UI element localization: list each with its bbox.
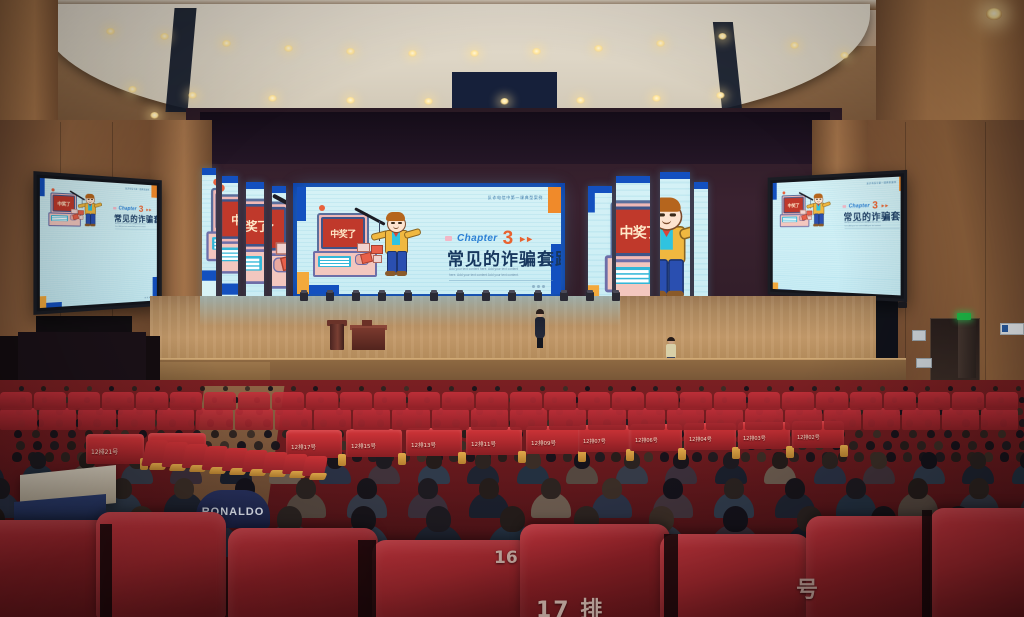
seat-label: 12排04号 bbox=[689, 436, 712, 443]
audience-head bbox=[968, 441, 977, 450]
audience-head bbox=[418, 478, 438, 499]
led-strip-cap bbox=[246, 182, 264, 189]
seat-back[interactable] bbox=[824, 408, 861, 430]
ceiling-downlight bbox=[222, 40, 231, 47]
audience-head bbox=[970, 452, 986, 469]
seat-back[interactable] bbox=[238, 392, 270, 410]
monitor-screen-text: 中奖了 bbox=[246, 217, 264, 234]
wall-notice-sign bbox=[1000, 323, 1024, 335]
audience-head bbox=[917, 441, 926, 450]
presenter-hair bbox=[536, 309, 544, 314]
seat-back[interactable] bbox=[578, 392, 610, 410]
seat-label: 12排15号 bbox=[351, 442, 376, 450]
audience-head bbox=[785, 478, 805, 499]
footlight bbox=[456, 292, 464, 301]
ceiling-downlight bbox=[532, 48, 541, 55]
seat-back[interactable] bbox=[157, 408, 194, 430]
seat-back[interactable] bbox=[306, 392, 338, 410]
slide-illustration: 中奖了 bbox=[272, 196, 286, 302]
ceiling-wood-left bbox=[0, 0, 58, 132]
seat-label: 12排11号 bbox=[471, 440, 496, 448]
seat-gap bbox=[358, 540, 376, 617]
led-strip-cap bbox=[660, 172, 690, 179]
footlight bbox=[430, 292, 438, 301]
led-strip-cap bbox=[222, 176, 238, 183]
keyboard-icon bbox=[616, 267, 650, 284]
seat-back[interactable] bbox=[816, 392, 848, 410]
character-hair bbox=[386, 212, 405, 221]
phishing-card bbox=[371, 245, 383, 254]
seat-back[interactable] bbox=[275, 408, 312, 430]
wall-plate bbox=[916, 358, 932, 368]
seat-back[interactable] bbox=[118, 408, 155, 430]
presentation-slide: 反诈电信中第一课典型案例 中奖了 bbox=[297, 187, 561, 294]
wall-plate bbox=[912, 330, 926, 341]
foreground-seat[interactable] bbox=[96, 512, 226, 617]
slide-illustration: 中奖了 bbox=[222, 189, 238, 286]
seat-back[interactable] bbox=[785, 408, 822, 430]
seat-label: 12排03号 bbox=[743, 435, 766, 442]
audience-head bbox=[296, 478, 316, 499]
footlight bbox=[534, 292, 542, 301]
seat-back[interactable] bbox=[612, 392, 644, 410]
led-strip-cap bbox=[272, 186, 286, 193]
audience-head bbox=[631, 386, 636, 391]
slide-pagination-dots bbox=[532, 285, 545, 288]
audience-head bbox=[903, 386, 908, 391]
audience-head bbox=[886, 452, 896, 462]
seat-back[interactable] bbox=[392, 408, 429, 430]
seat-back[interactable] bbox=[863, 408, 900, 430]
seat-label: 12排07号 bbox=[583, 438, 606, 445]
exit-sign-icon bbox=[957, 313, 971, 320]
ceiling-downlight bbox=[594, 45, 603, 52]
seat-back[interactable] bbox=[136, 392, 168, 410]
stage-table-item bbox=[362, 320, 372, 326]
foreground-seat[interactable] bbox=[930, 508, 1024, 617]
seat-back[interactable] bbox=[544, 392, 576, 410]
seat-back[interactable] bbox=[34, 392, 66, 410]
chapter-tag bbox=[445, 236, 452, 241]
seat-back[interactable] bbox=[0, 408, 37, 430]
keyboard-icon bbox=[246, 256, 262, 271]
audience-head bbox=[479, 478, 499, 499]
audience-head bbox=[14, 430, 22, 438]
ceiling-downlight bbox=[840, 52, 849, 59]
seat-number-label: 号 bbox=[796, 572, 818, 604]
seat-back[interactable] bbox=[442, 392, 474, 410]
audience-head bbox=[500, 506, 525, 532]
character-shoe bbox=[385, 271, 396, 276]
character-eye bbox=[660, 213, 665, 215]
audience-head bbox=[873, 430, 881, 438]
slide-divider bbox=[449, 280, 553, 281]
seat-back[interactable] bbox=[170, 392, 202, 410]
seat-armrest bbox=[398, 453, 406, 465]
seat-back[interactable] bbox=[902, 408, 939, 430]
audience-head bbox=[903, 452, 913, 462]
slide-accent-top-left bbox=[297, 187, 306, 221]
audience-head bbox=[254, 441, 263, 450]
ceiling-downlight bbox=[346, 97, 355, 104]
ceiling-downlight bbox=[160, 33, 169, 40]
foreground-seat[interactable] bbox=[660, 534, 810, 617]
side-display-left[interactable]: 反诈电信中第一课典型案例 中奖了 bbox=[33, 171, 161, 315]
seat-gap bbox=[664, 534, 678, 617]
footlight bbox=[612, 292, 620, 301]
audience-head bbox=[336, 386, 341, 391]
seat-armrest bbox=[458, 452, 466, 464]
seat-back[interactable] bbox=[510, 408, 547, 430]
seat-back[interactable] bbox=[314, 408, 351, 430]
seat-back[interactable] bbox=[204, 392, 236, 410]
audience-head bbox=[1016, 386, 1021, 391]
computer-base bbox=[605, 255, 612, 292]
audience-head bbox=[357, 478, 377, 499]
ceiling-downlight bbox=[408, 50, 417, 57]
ceiling-downlight bbox=[284, 45, 293, 52]
seat-back[interactable] bbox=[272, 392, 304, 410]
audience-head bbox=[155, 386, 160, 391]
keyboard-icon bbox=[222, 248, 238, 262]
seat-label: 12排17号 bbox=[291, 443, 316, 451]
mirror-monitor-text-left: 中奖了 bbox=[57, 200, 70, 207]
footlight bbox=[378, 292, 386, 301]
seat-back[interactable] bbox=[646, 392, 678, 410]
audience-head bbox=[1019, 419, 1024, 427]
side-display-left-screen: 反诈电信中第一课典型案例 中奖了 bbox=[40, 178, 157, 308]
seat-back[interactable] bbox=[432, 408, 469, 430]
led-strip-cap bbox=[694, 182, 708, 189]
seat-back[interactable] bbox=[952, 392, 984, 410]
audience-head bbox=[909, 430, 917, 438]
monitor-screen: 中奖了 bbox=[222, 199, 238, 239]
mirrored-slide-right: 反诈电信中第一课典型案例 中奖了 bbox=[773, 177, 901, 296]
audience-head bbox=[291, 386, 296, 391]
seat-back[interactable] bbox=[942, 408, 979, 430]
seat-back[interactable] bbox=[353, 408, 390, 430]
presenter-legs bbox=[537, 338, 543, 348]
ceiling-downlight bbox=[188, 92, 197, 99]
seat-back[interactable] bbox=[981, 408, 1018, 430]
auditorium-scene: 反诈电信中第一课典型案例 中奖了 bbox=[0, 0, 1024, 617]
seat-back[interactable] bbox=[588, 408, 625, 430]
seat-label: 12排02号 bbox=[797, 434, 820, 441]
phishing-card bbox=[357, 243, 370, 252]
audience-head bbox=[676, 386, 681, 391]
audience-head bbox=[19, 386, 24, 391]
seat-label: 12排09号 bbox=[531, 439, 556, 447]
seat-back[interactable] bbox=[918, 392, 950, 410]
presentation-slide: 反诈电信中第一课典型案例 中奖了 bbox=[202, 168, 216, 281]
monitor-screen-text: 中奖了 bbox=[620, 221, 650, 241]
seat-back[interactable] bbox=[850, 392, 882, 410]
audience-head bbox=[871, 452, 887, 469]
seat-row-marker-16: 16 bbox=[494, 548, 518, 568]
audience-head bbox=[359, 386, 364, 391]
audience-head bbox=[540, 386, 545, 391]
seat-armrest bbox=[518, 451, 526, 463]
side-display-right-screen: 反诈电信中第一课典型案例 中奖了 bbox=[773, 177, 901, 296]
ceiling-downlight bbox=[268, 95, 277, 102]
audience-head bbox=[268, 386, 273, 391]
audience-head bbox=[855, 430, 863, 438]
audience-head bbox=[32, 430, 40, 438]
seat-back[interactable] bbox=[748, 392, 780, 410]
foreground-seat[interactable] bbox=[0, 520, 110, 617]
audience-head bbox=[495, 386, 500, 391]
seat-armrest bbox=[338, 454, 346, 466]
audience-head bbox=[663, 478, 683, 499]
audience-head bbox=[33, 441, 42, 450]
audience-head bbox=[12, 452, 22, 462]
student-hair bbox=[667, 337, 675, 341]
audience-head bbox=[1000, 452, 1010, 462]
audience-head bbox=[611, 452, 621, 462]
side-display-right[interactable]: 反诈电信中第一课典型案例 中奖了 bbox=[768, 170, 907, 302]
audience-head bbox=[50, 441, 59, 450]
ceiling-downlight-bright bbox=[986, 8, 1002, 20]
audience-head bbox=[404, 386, 409, 391]
ceiling-downlight bbox=[718, 33, 727, 40]
audience-head bbox=[708, 452, 718, 462]
character-eye bbox=[398, 222, 402, 224]
audience-head bbox=[908, 478, 928, 499]
audience-head bbox=[426, 506, 451, 532]
audience-head bbox=[854, 452, 864, 462]
audience-head bbox=[900, 441, 909, 450]
seat-back[interactable] bbox=[340, 392, 372, 410]
slide-illustration: 中奖了 bbox=[605, 195, 612, 306]
main-led-wall[interactable]: 反诈电信中第一课典型案例 中奖了 bbox=[297, 187, 561, 294]
mirror-monitor-text-right: 中奖了 bbox=[788, 202, 800, 209]
seat-armrest bbox=[309, 473, 328, 480]
audience-head bbox=[883, 441, 892, 450]
footlight bbox=[482, 292, 490, 301]
phishing-card bbox=[276, 242, 286, 254]
monitor-screen-text: 中奖了 bbox=[231, 211, 238, 227]
seat-row-label-17: 17 排 bbox=[536, 592, 604, 617]
seat-back[interactable] bbox=[714, 392, 746, 410]
audience-head bbox=[525, 452, 541, 469]
led-strip-cap bbox=[202, 168, 216, 175]
ceiling-downlight bbox=[716, 92, 725, 99]
audience-head bbox=[951, 452, 961, 462]
seat-back[interactable] bbox=[706, 408, 743, 430]
chapter-arrow-icon: ►► bbox=[518, 234, 532, 244]
audience-head bbox=[835, 386, 840, 391]
audience-head bbox=[692, 452, 702, 462]
seat-back[interactable] bbox=[0, 392, 32, 410]
footlight bbox=[508, 292, 516, 301]
audience-head bbox=[427, 386, 432, 391]
lectern bbox=[330, 324, 344, 350]
seat-back[interactable] bbox=[510, 392, 542, 410]
audience-head bbox=[68, 430, 76, 438]
audience-head bbox=[45, 452, 55, 462]
audience-head bbox=[767, 386, 772, 391]
seat-back[interactable] bbox=[39, 408, 76, 430]
ceiling-downlight bbox=[470, 50, 479, 57]
student-body bbox=[666, 344, 676, 358]
seat-back[interactable] bbox=[667, 408, 704, 430]
seat-back[interactable] bbox=[68, 392, 100, 410]
seat-back[interactable] bbox=[408, 392, 440, 410]
seat-back[interactable] bbox=[680, 392, 712, 410]
presentation-slide: 反诈电信中第一课典型案例 中奖了 bbox=[272, 186, 286, 312]
seat-back[interactable] bbox=[782, 392, 814, 410]
footlight bbox=[300, 292, 308, 301]
seat-label: 12排13号 bbox=[411, 441, 436, 449]
footlight bbox=[352, 292, 360, 301]
seat-back[interactable] bbox=[235, 408, 272, 430]
character-shoe bbox=[396, 271, 407, 276]
presentation-slide: 反诈电信中第一课典型案例 中奖了 bbox=[246, 182, 264, 307]
audience-head bbox=[229, 430, 237, 438]
monitor-screen: 中奖了 bbox=[246, 204, 264, 247]
audience-head bbox=[1019, 441, 1024, 450]
audience-head bbox=[846, 478, 866, 499]
presenter-body bbox=[535, 317, 545, 339]
audience-head bbox=[866, 441, 875, 450]
stage-table bbox=[352, 328, 385, 350]
seat-label: 12排06号 bbox=[635, 437, 658, 444]
seat-gap bbox=[922, 510, 932, 617]
audience-head bbox=[880, 386, 885, 391]
audience-head bbox=[921, 452, 937, 469]
audience-head bbox=[806, 452, 816, 462]
slide-accent-top-right bbox=[548, 187, 561, 213]
audience-head bbox=[724, 478, 744, 499]
character-eye bbox=[391, 222, 395, 224]
door-curtain bbox=[958, 320, 976, 378]
security-camera-icon bbox=[898, 302, 907, 308]
ceiling-downlight bbox=[656, 40, 665, 47]
audience-head bbox=[891, 430, 899, 438]
stage-header-masking bbox=[200, 112, 830, 164]
seat-back[interactable] bbox=[549, 408, 586, 430]
slide-illustration: 中奖了 bbox=[313, 209, 423, 287]
audience-head bbox=[822, 452, 838, 469]
monitor-screen: 中奖了 bbox=[616, 207, 650, 257]
monitor-screen-text: 中奖了 bbox=[272, 220, 274, 238]
seat-back[interactable] bbox=[745, 408, 782, 430]
audience-head bbox=[223, 386, 228, 391]
seat-back[interactable] bbox=[102, 392, 134, 410]
seat-armrest bbox=[840, 445, 848, 457]
audience-head bbox=[200, 386, 205, 391]
seat-back[interactable] bbox=[986, 392, 1018, 410]
wall-seam bbox=[985, 122, 986, 414]
audience-head bbox=[541, 478, 561, 499]
audience-head bbox=[1019, 397, 1024, 403]
audience-head bbox=[934, 441, 943, 450]
footlight bbox=[560, 292, 568, 301]
audience-head bbox=[16, 441, 25, 450]
slide-illustration: 中奖了 bbox=[206, 183, 216, 272]
footlight bbox=[404, 292, 412, 301]
audience-head bbox=[948, 386, 953, 391]
audience-head bbox=[247, 430, 255, 438]
led-strip-cap bbox=[616, 176, 650, 183]
audience-head bbox=[61, 452, 71, 462]
seat-back[interactable] bbox=[374, 392, 406, 410]
audience-head bbox=[271, 441, 280, 450]
seat-back[interactable] bbox=[628, 408, 665, 430]
audience-head bbox=[1020, 452, 1024, 469]
ceiling-downlight bbox=[500, 98, 509, 105]
footlight bbox=[586, 292, 594, 301]
ceiling-downlight bbox=[424, 98, 433, 105]
ceiling-downlight bbox=[346, 48, 355, 55]
audience-head bbox=[67, 441, 76, 450]
audience-head bbox=[30, 452, 46, 469]
audience-head bbox=[744, 386, 749, 391]
audience-head bbox=[87, 386, 92, 391]
audience-head bbox=[211, 430, 219, 438]
audience-head bbox=[602, 478, 622, 499]
monitor-screen-text: 中奖了 bbox=[330, 227, 356, 240]
character-eye bbox=[670, 213, 676, 215]
ceiling-downlight bbox=[128, 86, 137, 93]
audience-head bbox=[50, 430, 58, 438]
audience-head bbox=[971, 386, 976, 391]
audience-head bbox=[741, 452, 751, 462]
phishing-card bbox=[373, 255, 382, 263]
audience-head bbox=[723, 506, 748, 532]
audience-head bbox=[595, 452, 605, 462]
slide-header-text: 反诈电信中第一课典型案例 bbox=[488, 195, 543, 201]
slide-subtitle-line-2: here. Add your text content Add your tex… bbox=[449, 272, 553, 278]
slide-subtitle: Add your text content here. Add your tex… bbox=[449, 266, 553, 278]
mirror-chapter-right: Chapter bbox=[849, 203, 870, 209]
ceiling-downlight bbox=[106, 28, 115, 35]
audience-head bbox=[849, 441, 858, 450]
seat-back[interactable] bbox=[884, 392, 916, 410]
seat-back[interactable] bbox=[476, 392, 508, 410]
footlight bbox=[326, 292, 334, 301]
led-strip-cap bbox=[588, 186, 612, 193]
audience-head bbox=[608, 386, 613, 391]
audience-head bbox=[1016, 430, 1024, 438]
audience-head bbox=[699, 386, 704, 391]
audience-head bbox=[472, 386, 477, 391]
audience-head bbox=[969, 478, 989, 499]
keyboard-icon bbox=[212, 237, 216, 250]
ceiling-wood-right bbox=[876, 0, 1024, 136]
ceiling-downlight bbox=[150, 112, 159, 119]
audience-head bbox=[812, 386, 817, 391]
audience-head bbox=[951, 441, 960, 450]
seat-gap bbox=[100, 524, 112, 617]
seat-back[interactable] bbox=[78, 408, 115, 430]
presenter-figure bbox=[534, 310, 546, 348]
audience-head bbox=[64, 386, 69, 391]
audience-head bbox=[985, 441, 994, 450]
seat-back[interactable] bbox=[196, 408, 233, 430]
seat-back[interactable] bbox=[471, 408, 508, 430]
audience-head bbox=[660, 452, 670, 462]
audience-head bbox=[927, 430, 935, 438]
mirrored-slide-left: 反诈电信中第一课典型案例 中奖了 bbox=[40, 178, 157, 308]
ceiling-downlight bbox=[652, 95, 661, 102]
audience-head bbox=[644, 452, 654, 462]
foreground-seat[interactable] bbox=[228, 528, 378, 617]
audience-head bbox=[757, 452, 767, 462]
slide-texture bbox=[694, 182, 708, 313]
ceiling-downlight bbox=[576, 97, 585, 104]
audience-head bbox=[563, 386, 568, 391]
